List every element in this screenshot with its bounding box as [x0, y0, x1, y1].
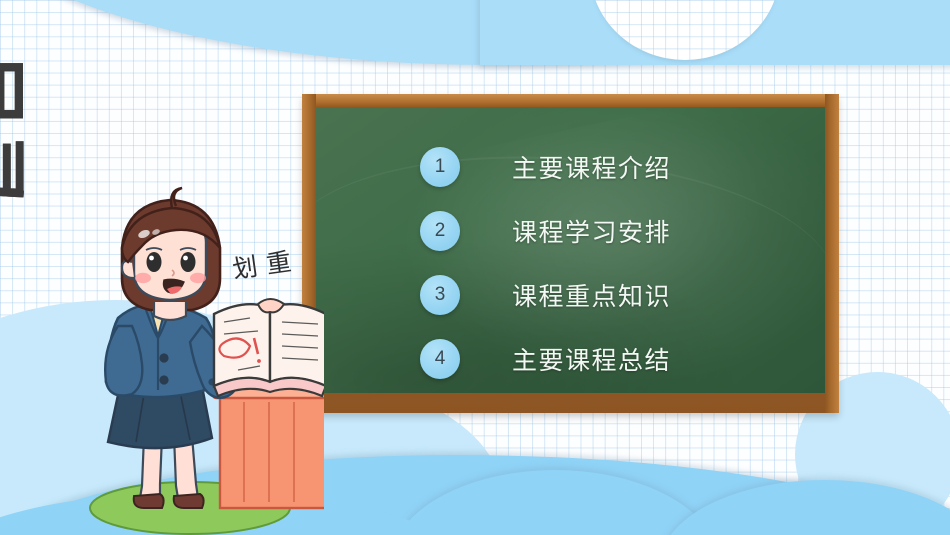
chalkboard-frame-right — [825, 94, 839, 413]
agenda-list: 1 主要课程介绍 2 课程学习安排 3 课程重点知识 4 主要课程总结 — [420, 145, 671, 393]
teacher-illustration — [72, 186, 324, 535]
agenda-item[interactable]: 1 主要课程介绍 — [420, 145, 671, 189]
page-title: 目录 — [0, 52, 22, 212]
agenda-item-label: 主要课程总结 — [512, 341, 671, 377]
agenda-item-label: 主要课程介绍 — [512, 149, 671, 185]
agenda-number-badge: 4 — [420, 339, 460, 379]
agenda-item[interactable]: 3 课程重点知识 — [420, 273, 671, 317]
agenda-number-badge: 1 — [420, 147, 460, 187]
page-title-text: 目录 — [0, 52, 22, 212]
open-book — [214, 299, 324, 396]
chalkboard: 1 主要课程介绍 2 课程学习安排 3 课程重点知识 4 主要课程总结 — [302, 94, 839, 413]
slide-canvas: 目录 划重点 1 主要课 — [0, 0, 950, 535]
chalkboard-surface: 1 主要课程介绍 2 课程学习安排 3 课程重点知识 4 主要课程总结 — [316, 107, 825, 393]
agenda-item[interactable]: 4 主要课程总结 — [420, 337, 671, 381]
agenda-number-badge: 3 — [420, 275, 460, 315]
agenda-item-label: 课程学习安排 — [512, 213, 671, 249]
agenda-item-label: 课程重点知识 — [512, 277, 671, 313]
agenda-number-badge: 2 — [420, 211, 460, 251]
agenda-item[interactable]: 2 课程学习安排 — [420, 209, 671, 253]
head — [122, 188, 220, 320]
